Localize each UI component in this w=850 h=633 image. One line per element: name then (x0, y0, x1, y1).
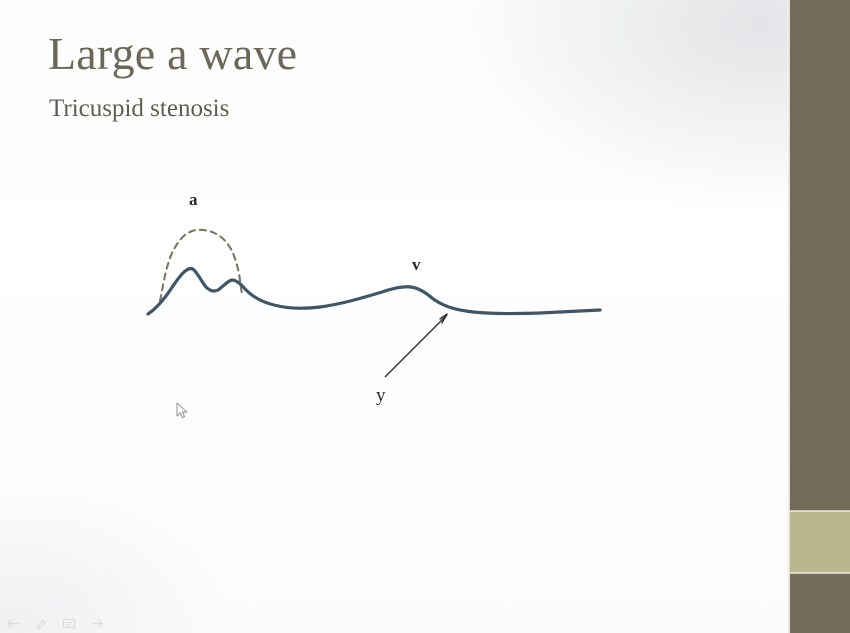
sidebar-band-middle (790, 511, 850, 573)
v-wave-label: v (412, 255, 421, 275)
sidebar-seam-lower (790, 572, 850, 574)
sidebar-band-bottom (790, 573, 850, 633)
mouse-cursor (176, 402, 189, 419)
next-slide-icon[interactable] (90, 616, 104, 627)
waveform-svg (0, 0, 790, 633)
y-descent-arrow (385, 314, 447, 377)
a-wave-label: a (189, 190, 198, 210)
slide-menu-icon[interactable] (62, 616, 76, 627)
slideshow-controls[interactable] (6, 616, 104, 627)
waveform-figure: a v y (0, 0, 790, 633)
presentation-slide: Large a wave Tricuspid stenosis a v y (0, 0, 850, 633)
solid-jvp-trace (148, 269, 600, 314)
sidebar-band-top (790, 0, 850, 511)
pointer-options-icon[interactable] (34, 616, 48, 627)
sidebar-seam-upper (790, 510, 850, 512)
slide-decorative-sidebar (790, 0, 850, 633)
dashed-a-wave-trace (160, 230, 242, 301)
previous-slide-icon[interactable] (6, 616, 20, 627)
y-descent-label: y (376, 385, 386, 407)
